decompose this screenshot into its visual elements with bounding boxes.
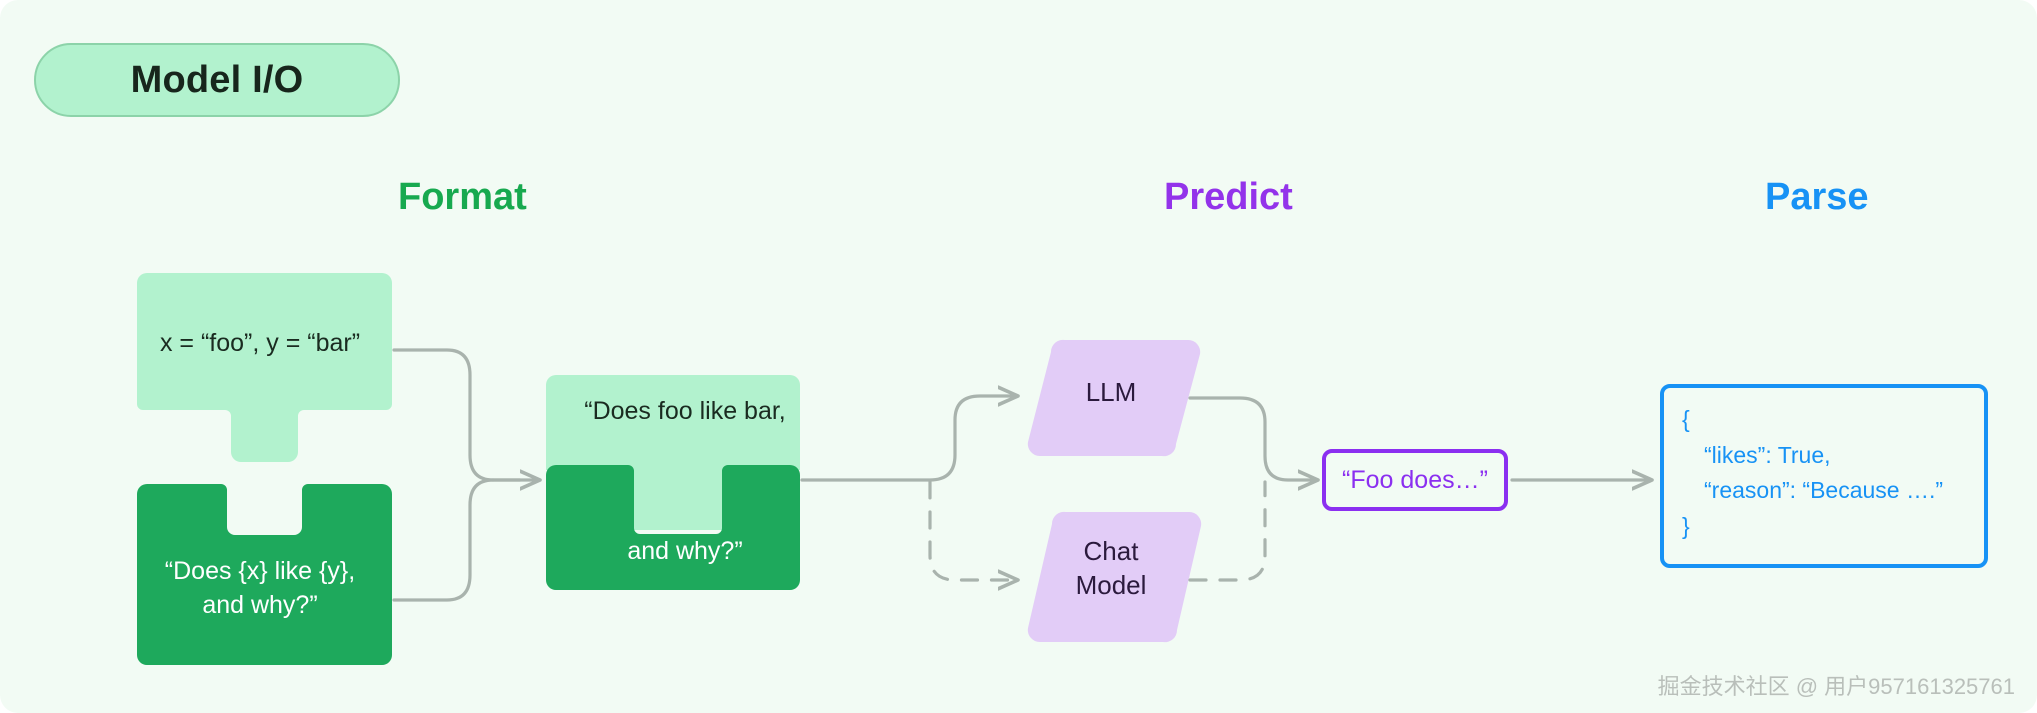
format-template-piece [137,484,392,665]
predict-output-text: “Foo does…” [1342,466,1488,495]
connector-format-merge [394,350,540,600]
json-line: { [1682,402,1966,438]
connector-predict-branch-dashed [930,482,1018,580]
connector-predict-merge-dashed [1190,482,1265,580]
diagram-canvas: Model I/O Format Predict Parse [0,0,2037,713]
format-variables-piece [137,273,392,462]
parse-json-box: { “likes”: True, “reason”: “Because ….” … [1660,384,1988,568]
connector-predict-branch-solid [802,396,1018,480]
llm-parallelogram [1028,340,1200,456]
watermark: 掘金技术社区 @ 用户957161325761 [1658,669,2015,701]
diagram-graphics-layer [0,0,2037,713]
connector-predict-merge-solid [1190,398,1318,480]
format-merged-piece [546,375,800,590]
chat-model-parallelogram [1028,512,1201,642]
json-line: “reason”: “Because ….” [1682,473,1966,509]
json-line: “likes”: True, [1682,438,1966,474]
json-line: } [1682,509,1966,545]
predict-output-box: “Foo does…” [1322,449,1508,511]
